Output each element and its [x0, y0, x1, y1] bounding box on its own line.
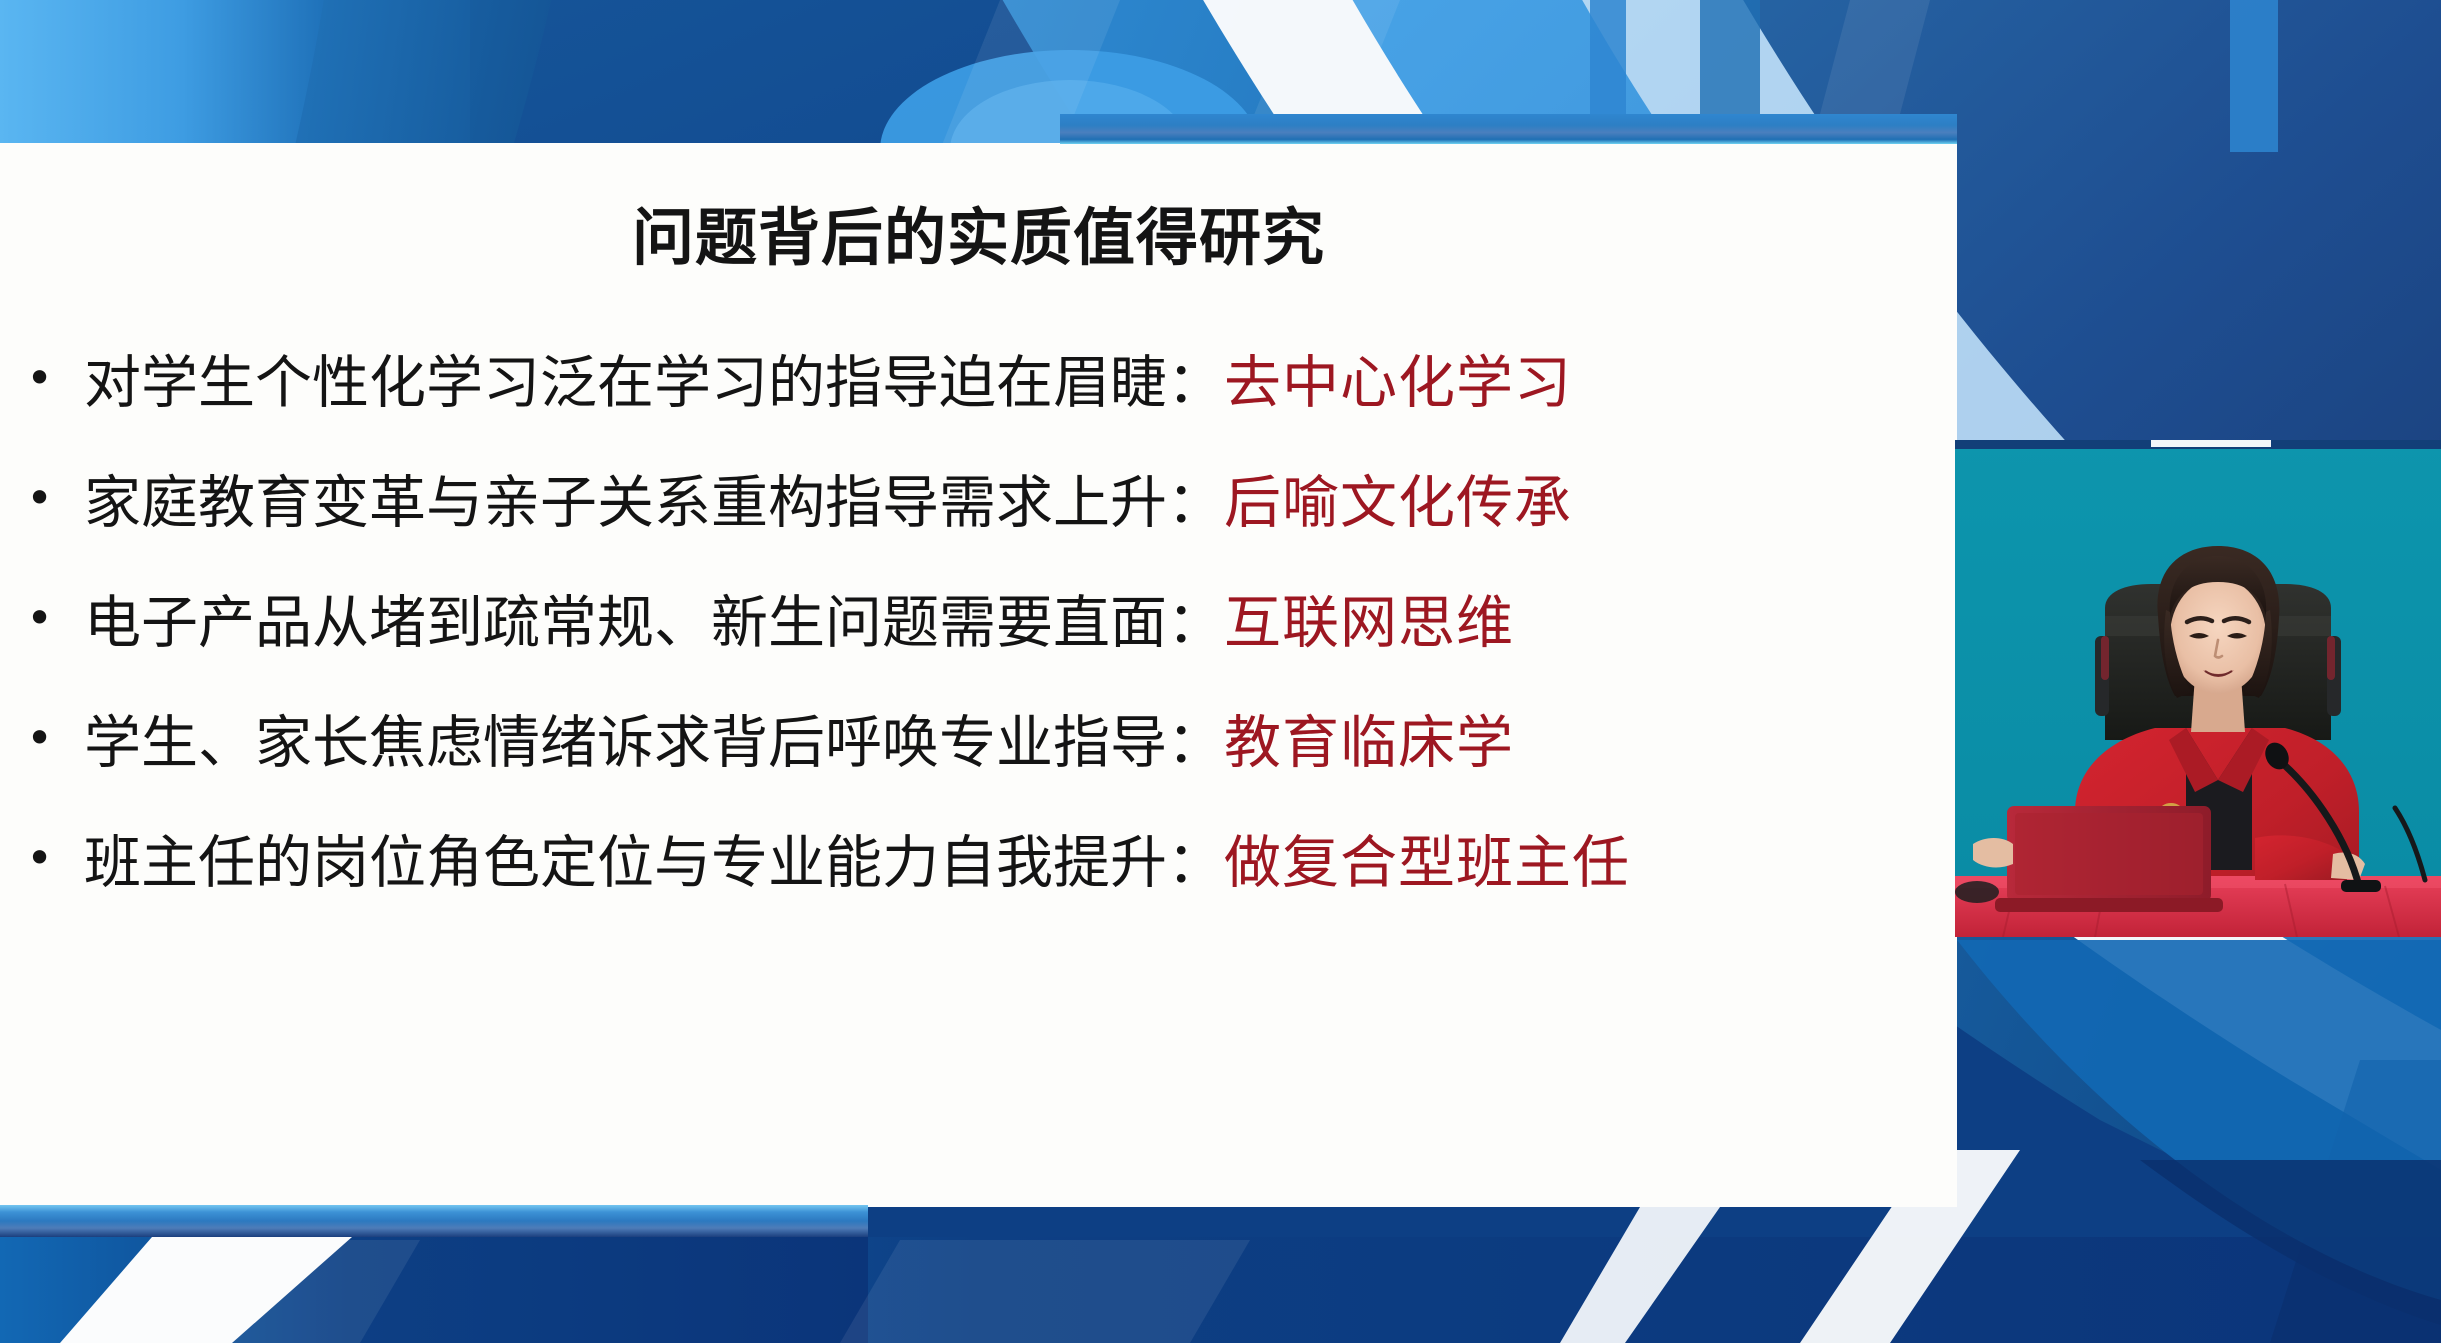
list-item: • 班主任的岗位角色定位与专业能力自我提升：做复合型班主任: [0, 835, 1957, 955]
bullet-key-phrase: 去中心化学习: [1224, 350, 1572, 416]
bullet-dot-icon: •: [26, 715, 84, 761]
list-item: • 家庭教育变革与亲子关系重构指导需求上升：后喻文化传承: [0, 475, 1957, 595]
bullet-key-phrase: 教育临床学: [1224, 710, 1514, 776]
page-title: 问题背后的实质值得研究: [0, 187, 1957, 277]
bullet-key-phrase: 互联网思维: [1224, 590, 1514, 656]
bullet-text: 学生、家长焦虑情绪诉求背后呼唤专业指导：教育临床学: [84, 715, 1514, 772]
list-item: • 学生、家长焦虑情绪诉求背后呼唤专业指导：教育临床学: [0, 715, 1957, 835]
bullet-lead-text: 家庭教育变革与亲子关系重构指导需求上升：: [84, 470, 1224, 536]
panel-top-accent-band: [1060, 114, 1957, 144]
list-item: • 电子产品从堵到疏常规、新生问题需要直面：互联网思维: [0, 595, 1957, 715]
bullet-dot-icon: •: [26, 355, 84, 401]
bullet-dot-icon: •: [26, 475, 84, 521]
bullet-lead-text: 对学生个性化学习泛在学习的指导迫在眉睫：: [84, 350, 1224, 416]
bullet-lead-text: 班主任的岗位角色定位与专业能力自我提升：: [84, 830, 1224, 896]
bullet-text: 班主任的岗位角色定位与专业能力自我提升：做复合型班主任: [84, 835, 1630, 892]
bullet-lead-text: 学生、家长焦虑情绪诉求背后呼唤专业指导：: [84, 710, 1224, 776]
laptop: [1995, 806, 2223, 912]
bullet-list: • 对学生个性化学习泛在学习的指导迫在眉睫：去中心化学习 • 家庭教育变革与亲子…: [0, 355, 1957, 955]
bullet-lead-text: 电子产品从堵到疏常规、新生问题需要直面：: [84, 590, 1224, 656]
bullet-dot-icon: •: [26, 835, 84, 881]
bullet-key-phrase: 后喻文化传承: [1224, 470, 1572, 536]
presenter-video-inset[interactable]: [1955, 440, 2441, 937]
bullet-dot-icon: •: [26, 595, 84, 641]
bullet-text: 电子产品从堵到疏常规、新生问题需要直面：互联网思维: [84, 595, 1514, 652]
bullet-text: 家庭教育变革与亲子关系重构指导需求上升：后喻文化传承: [84, 475, 1572, 532]
list-item: • 对学生个性化学习泛在学习的指导迫在眉睫：去中心化学习: [0, 355, 1957, 475]
panel-bottom-accent-band: [0, 1205, 868, 1237]
bullet-key-phrase: 做复合型班主任: [1224, 830, 1630, 896]
bullet-text: 对学生个性化学习泛在学习的指导迫在眉睫：去中心化学习: [84, 355, 1572, 412]
presenter-video-frame: [1955, 440, 2441, 937]
